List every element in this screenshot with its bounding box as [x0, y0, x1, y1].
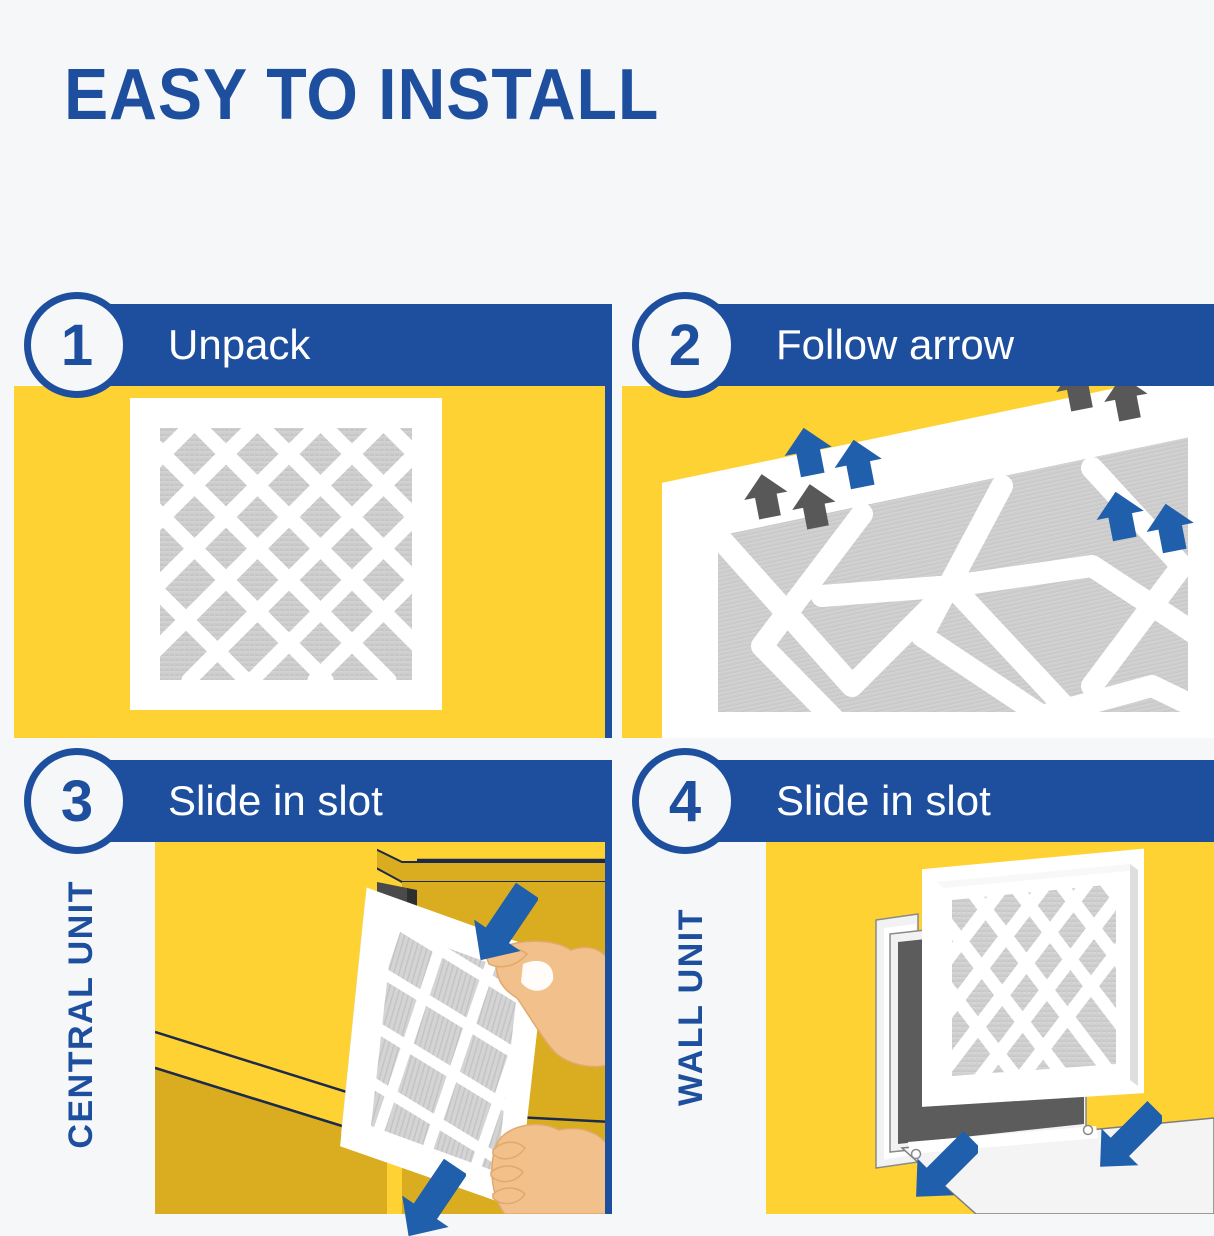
- step-3-side-label: CENTRAL UNIT: [62, 880, 101, 1149]
- step-4-number: 4: [632, 748, 738, 854]
- step-2-label: Follow arrow: [776, 304, 1014, 386]
- column-divider-bottom: [605, 842, 612, 1214]
- blue-airflow-arrow-right: [1082, 492, 1202, 572]
- step-4-label: Slide in slot: [776, 760, 991, 842]
- blue-direction-arrow-left-4: [898, 1110, 978, 1200]
- infographic-root: EASY TO INSTALL: [0, 0, 1214, 1214]
- step-1-number: 1: [24, 292, 130, 398]
- blue-direction-arrow-bottom-3: [380, 1140, 466, 1236]
- step-1-header-bar: [63, 304, 612, 386]
- step-3-number: 3: [24, 748, 130, 854]
- hand-lower: [491, 1125, 612, 1214]
- blue-direction-arrow-right-4: [1082, 1080, 1162, 1170]
- step-2-number: 2: [632, 292, 738, 398]
- filter-front-view-graphic: [14, 386, 612, 738]
- step-1-illustration: [14, 386, 612, 738]
- page-title: EASY TO INSTALL: [64, 54, 659, 136]
- blue-direction-arrow-top-3: [452, 864, 538, 960]
- step-3-label: Slide in slot: [168, 760, 383, 842]
- step-4-side-label: WALL UNIT: [672, 908, 711, 1106]
- step-1-label: Unpack: [168, 304, 310, 386]
- column-divider-top: [605, 386, 612, 738]
- blue-airflow-arrow-left: [770, 428, 890, 508]
